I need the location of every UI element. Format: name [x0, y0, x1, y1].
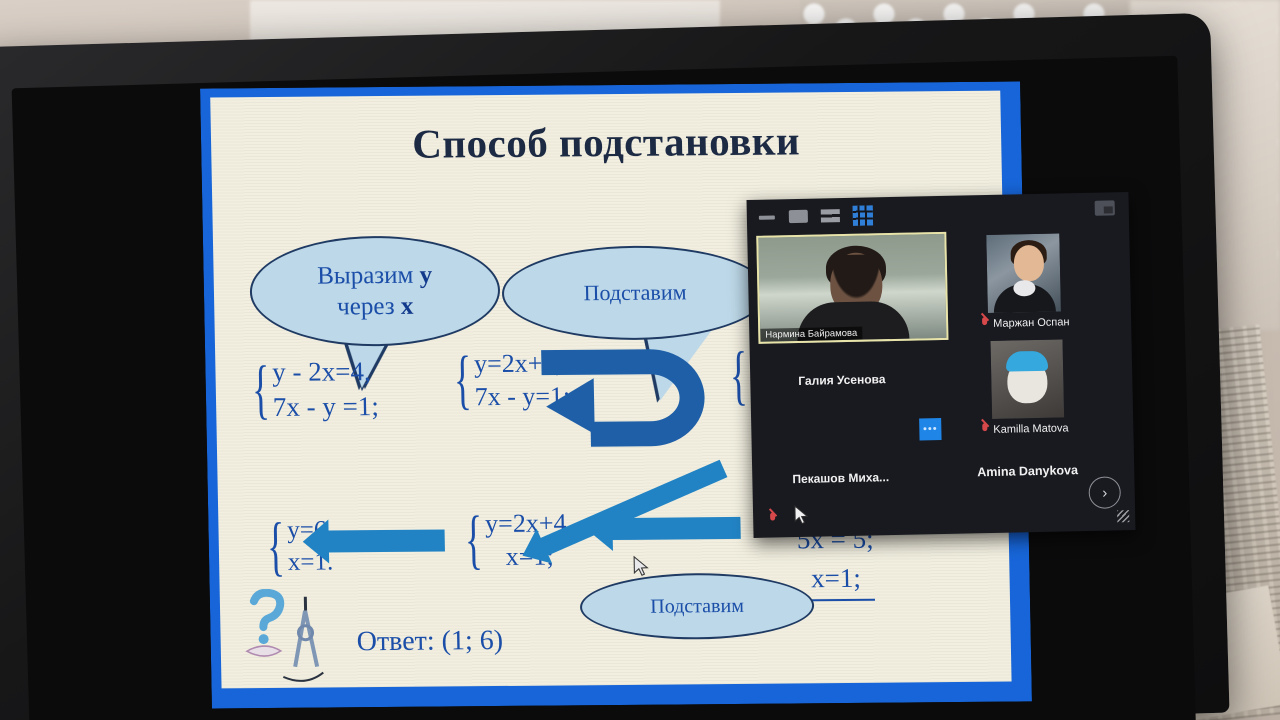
avatar-cap	[1006, 351, 1048, 372]
mic-muted-icon-bottom	[769, 509, 781, 527]
bubble-podstavim-bottom: Подставим	[579, 572, 814, 640]
brace-icon: {	[252, 362, 271, 418]
bubble-vyrazim-var1: y	[419, 261, 432, 288]
system-original-row1: y - 2x=4,	[272, 354, 379, 389]
pip-layout-icon[interactable]	[1095, 200, 1115, 215]
arrow-left-solution	[327, 529, 445, 552]
grid-view-icon[interactable]	[853, 205, 873, 225]
participant-name-kamilla: Kamilla Matova	[993, 422, 1068, 436]
avatar-head	[1014, 245, 1045, 282]
participant-label-pekashov[interactable]: Пекашов Миха...	[792, 470, 889, 486]
mic-muted-icon	[981, 423, 988, 434]
system-original-row2: 7x - y =1;	[273, 389, 380, 424]
uturn-arrow-icon	[531, 347, 713, 453]
system-original: { y - 2x=4, 7x - y =1;	[237, 354, 379, 424]
brace-icon: {	[453, 352, 472, 408]
participant-name-marzhan: Маржан Оспан	[993, 316, 1070, 330]
brace-icon: {	[464, 512, 483, 568]
participant-name-narmina: Нармина Байрамова	[760, 327, 862, 342]
answer-text: Ответ: (1; 6)	[356, 625, 503, 658]
question-mark-compass-clipart-icon	[242, 588, 334, 685]
split-view-icon[interactable]	[821, 209, 840, 222]
video-window-titlebar	[747, 192, 1130, 232]
participant-tile-marzhan[interactable]	[986, 233, 1061, 313]
participant-tile-active-speaker[interactable]: Нармина Байрамова	[756, 232, 948, 344]
video-conference-window[interactable]: Нармина Байрамова Маржан Оспан Галия Усе…	[747, 192, 1136, 538]
bubble-vyrazim: Выразим y через x	[249, 235, 501, 347]
screenshot-root: Способ подстановки Выразим y через x Под…	[0, 0, 1280, 720]
more-options-badge[interactable]: •••	[919, 418, 941, 440]
minimize-icon[interactable]	[759, 215, 775, 219]
mic-muted-icon	[769, 512, 776, 523]
next-page-button[interactable]: ›	[1088, 476, 1121, 509]
resize-grip-handle[interactable]	[1117, 510, 1129, 522]
mic-muted-icon	[981, 317, 988, 328]
bubble-podstavim-bottom-label: Подставим	[650, 593, 744, 619]
bubble-vyrazim-line1: Выразим	[317, 261, 420, 289]
brace-icon: {	[267, 519, 286, 575]
bubble-vyrazim-var2: x	[401, 293, 414, 320]
bubble-podstavim-top-label: Подставим	[583, 279, 686, 307]
participant-label-galia[interactable]: Галия Усенова	[798, 372, 885, 388]
page-title: Способ подстановки	[211, 115, 1002, 170]
participant-label-kamilla: Kamilla Matova	[981, 421, 1068, 436]
bubble-podstavim-top: Подставим	[501, 245, 769, 341]
arrow-left-substituted	[610, 517, 740, 540]
participant-label-amina[interactable]: Amina Danykova	[977, 463, 1078, 479]
mouse-cursor-video	[794, 505, 810, 531]
participant-tile-kamilla[interactable]	[991, 339, 1065, 418]
brace-icon: {	[729, 348, 748, 404]
bubble-vyrazim-line2: через	[337, 293, 401, 321]
participant-label-marzhan: Маржан Оспан	[981, 315, 1070, 330]
single-view-icon[interactable]	[789, 210, 808, 223]
